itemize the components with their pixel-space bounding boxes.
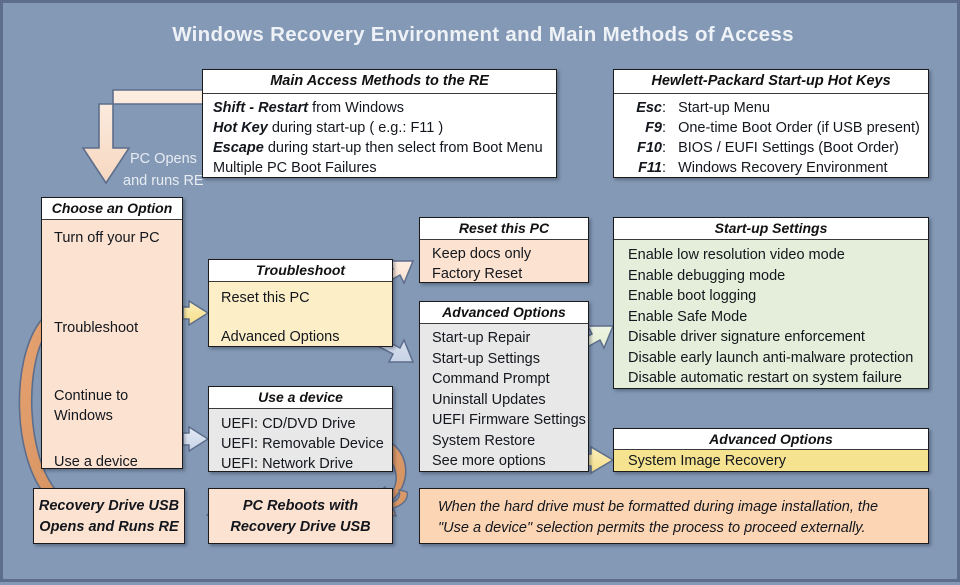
box-advanced-options: Advanced Options Start-up Repair Start-u…: [419, 301, 589, 472]
main-access-row: Multiple PC Boot Failures: [213, 158, 556, 178]
main-access-row-text: Multiple PC Boot Failures: [213, 160, 377, 176]
reset-item-keep-docs[interactable]: Keep docs only: [432, 244, 588, 264]
startup-setting-safe-mode[interactable]: Enable Safe Mode: [628, 307, 928, 328]
use-a-device-item-cddvd[interactable]: UEFI: CD/DVD Drive: [221, 414, 392, 434]
box-recovery-drive-usb: Recovery Drive USB Opens and Runs RE: [33, 488, 185, 544]
box-hp-hotkeys: Hewlett-Packard Start-up Hot Keys Esc: S…: [613, 69, 929, 178]
recovery-drive-usb-line1: Recovery Drive USB: [34, 496, 184, 517]
advopt-item-startup-repair[interactable]: Start-up Repair: [432, 328, 588, 349]
hp-hotkey-desc: One-time Boot Order (if USB present): [678, 120, 920, 136]
box-advanced-options-image-recovery: Advanced Options System Image Recovery: [613, 428, 929, 472]
option-item-continue-windows-line2[interactable]: Windows: [54, 406, 182, 426]
hp-hotkey-row: F9: One-time Boot Order (if USB present): [614, 118, 928, 138]
startup-setting-driver-signature[interactable]: Disable driver signature enforcement: [628, 327, 928, 348]
main-access-row-text: from Windows: [308, 100, 404, 116]
box-main-access-methods: Main Access Methods to the RE Shift - Re…: [202, 69, 557, 178]
use-a-device-item-network[interactable]: UEFI: Network Drive: [221, 454, 392, 474]
main-access-row-text: during start-up then select from Boot Me…: [264, 140, 543, 156]
box-note: When the hard drive must be formatted du…: [419, 488, 929, 544]
note-line2: "Use a device" selection permits the pro…: [438, 518, 928, 539]
advopt2-item-system-image-recovery[interactable]: System Image Recovery: [628, 451, 928, 471]
box-choose-an-option: Choose an Option Turn off your PC Troubl…: [41, 197, 183, 469]
box-hp-hotkeys-header: Hewlett-Packard Start-up Hot Keys: [614, 70, 928, 94]
advopt-item-startup-settings[interactable]: Start-up Settings: [432, 349, 588, 370]
troubleshoot-item-advanced-options[interactable]: Advanced Options: [221, 327, 392, 347]
hp-hotkey-sep: :: [662, 100, 666, 116]
use-a-device-item-removable[interactable]: UEFI: Removable Device: [221, 434, 392, 454]
advopt-item-system-restore[interactable]: System Restore: [432, 431, 588, 452]
startup-setting-anti-malware[interactable]: Disable early launch anti-malware protec…: [628, 348, 928, 369]
box-pc-reboots-recovery-drive: PC Reboots with Recovery Drive USB: [208, 488, 393, 544]
box-reset-this-pc-header: Reset this PC: [420, 218, 588, 240]
troubleshoot-item-reset-this-pc[interactable]: Reset this PC: [221, 288, 392, 308]
startup-setting-low-res-video[interactable]: Enable low resolution video mode: [628, 245, 928, 266]
hp-hotkey-key: F10: [614, 138, 662, 158]
hp-hotkey-row: F11: Windows Recovery Environment: [614, 158, 928, 178]
startup-setting-debugging[interactable]: Enable debugging mode: [628, 266, 928, 287]
advopt-item-uefi-firmware[interactable]: UEFI Firmware Settings: [432, 410, 588, 431]
main-access-row: Shift - Restart from Windows: [213, 98, 556, 118]
advopt-item-uninstall-updates[interactable]: Uninstall Updates: [432, 390, 588, 411]
hp-hotkey-desc: Start-up Menu: [678, 100, 770, 116]
box-choose-an-option-header: Choose an Option: [42, 198, 182, 220]
diagram-canvas: Windows Recovery Environment and Main Me…: [0, 0, 960, 582]
recovery-drive-usb-line2: Opens and Runs RE: [34, 517, 184, 538]
arrow-choose-troubleshoot-to-troubleshoot-box: [183, 301, 208, 325]
box-use-a-device: Use a device UEFI: CD/DVD Drive UEFI: Re…: [208, 386, 393, 472]
box-reset-this-pc: Reset this PC Keep docs only Factory Res…: [419, 217, 589, 283]
hp-hotkey-sep: :: [662, 120, 666, 136]
main-access-row-key: Shift - Restart: [213, 100, 308, 116]
hp-hotkey-key: Esc: [614, 98, 662, 118]
label-pc-opens-line1: PC Opens: [130, 151, 197, 167]
option-item-use-a-device[interactable]: Use a device: [54, 452, 182, 472]
main-access-row-key: Hot Key: [213, 120, 268, 136]
main-access-row-text: during start-up ( e.g.: F11 ): [268, 120, 443, 136]
main-access-row: Escape during start-up then select from …: [213, 138, 556, 158]
hp-hotkey-row: F10: BIOS / EUFI Settings (Boot Order): [614, 138, 928, 158]
note-line1: When the hard drive must be formatted du…: [438, 497, 928, 518]
box-advanced-options-image-recovery-header: Advanced Options: [614, 429, 928, 450]
box-use-a-device-header: Use a device: [209, 387, 392, 409]
box-startup-settings: Start-up Settings Enable low resolution …: [613, 217, 929, 389]
option-item-troubleshoot[interactable]: Troubleshoot: [54, 318, 182, 338]
hp-hotkey-key: F9: [614, 118, 662, 138]
box-advanced-options-header: Advanced Options: [420, 302, 588, 324]
advopt-item-command-prompt[interactable]: Command Prompt: [432, 369, 588, 390]
label-pc-opens-line2: and runs RE: [123, 173, 204, 189]
hp-hotkey-row: Esc: Start-up Menu: [614, 98, 928, 118]
startup-setting-boot-logging[interactable]: Enable boot logging: [628, 286, 928, 307]
pc-reboots-line2: Recovery Drive USB: [209, 517, 392, 538]
box-troubleshoot: Troubleshoot Reset this PC Advanced Opti…: [208, 259, 393, 347]
arrow-choose-use-device-to-use-device-box: [183, 427, 208, 451]
startup-setting-auto-restart[interactable]: Disable automatic restart on system fail…: [628, 368, 928, 389]
main-access-row-key: Escape: [213, 140, 264, 156]
advopt-item-see-more-options[interactable]: See more options: [432, 451, 588, 472]
option-item-continue-windows-line1[interactable]: Continue to: [54, 386, 182, 406]
hp-hotkey-desc: BIOS / EUFI Settings (Boot Order): [678, 140, 899, 156]
reset-item-factory-reset[interactable]: Factory Reset: [432, 264, 588, 284]
arrow-main-access-to-choose-option: [83, 90, 203, 183]
main-access-row: Hot Key during start-up ( e.g.: F11 ): [213, 118, 556, 138]
hp-hotkey-sep: :: [662, 160, 666, 176]
box-troubleshoot-header: Troubleshoot: [209, 260, 392, 282]
box-main-access-methods-header: Main Access Methods to the RE: [203, 70, 556, 94]
box-startup-settings-header: Start-up Settings: [614, 218, 928, 240]
hp-hotkey-sep: :: [662, 140, 666, 156]
page-title: Windows Recovery Environment and Main Me…: [3, 23, 960, 47]
option-item-turn-off-pc[interactable]: Turn off your PC: [54, 228, 182, 248]
pc-reboots-line1: PC Reboots with: [209, 496, 392, 517]
hp-hotkey-key: F11: [614, 158, 662, 178]
hp-hotkey-desc: Windows Recovery Environment: [678, 160, 888, 176]
